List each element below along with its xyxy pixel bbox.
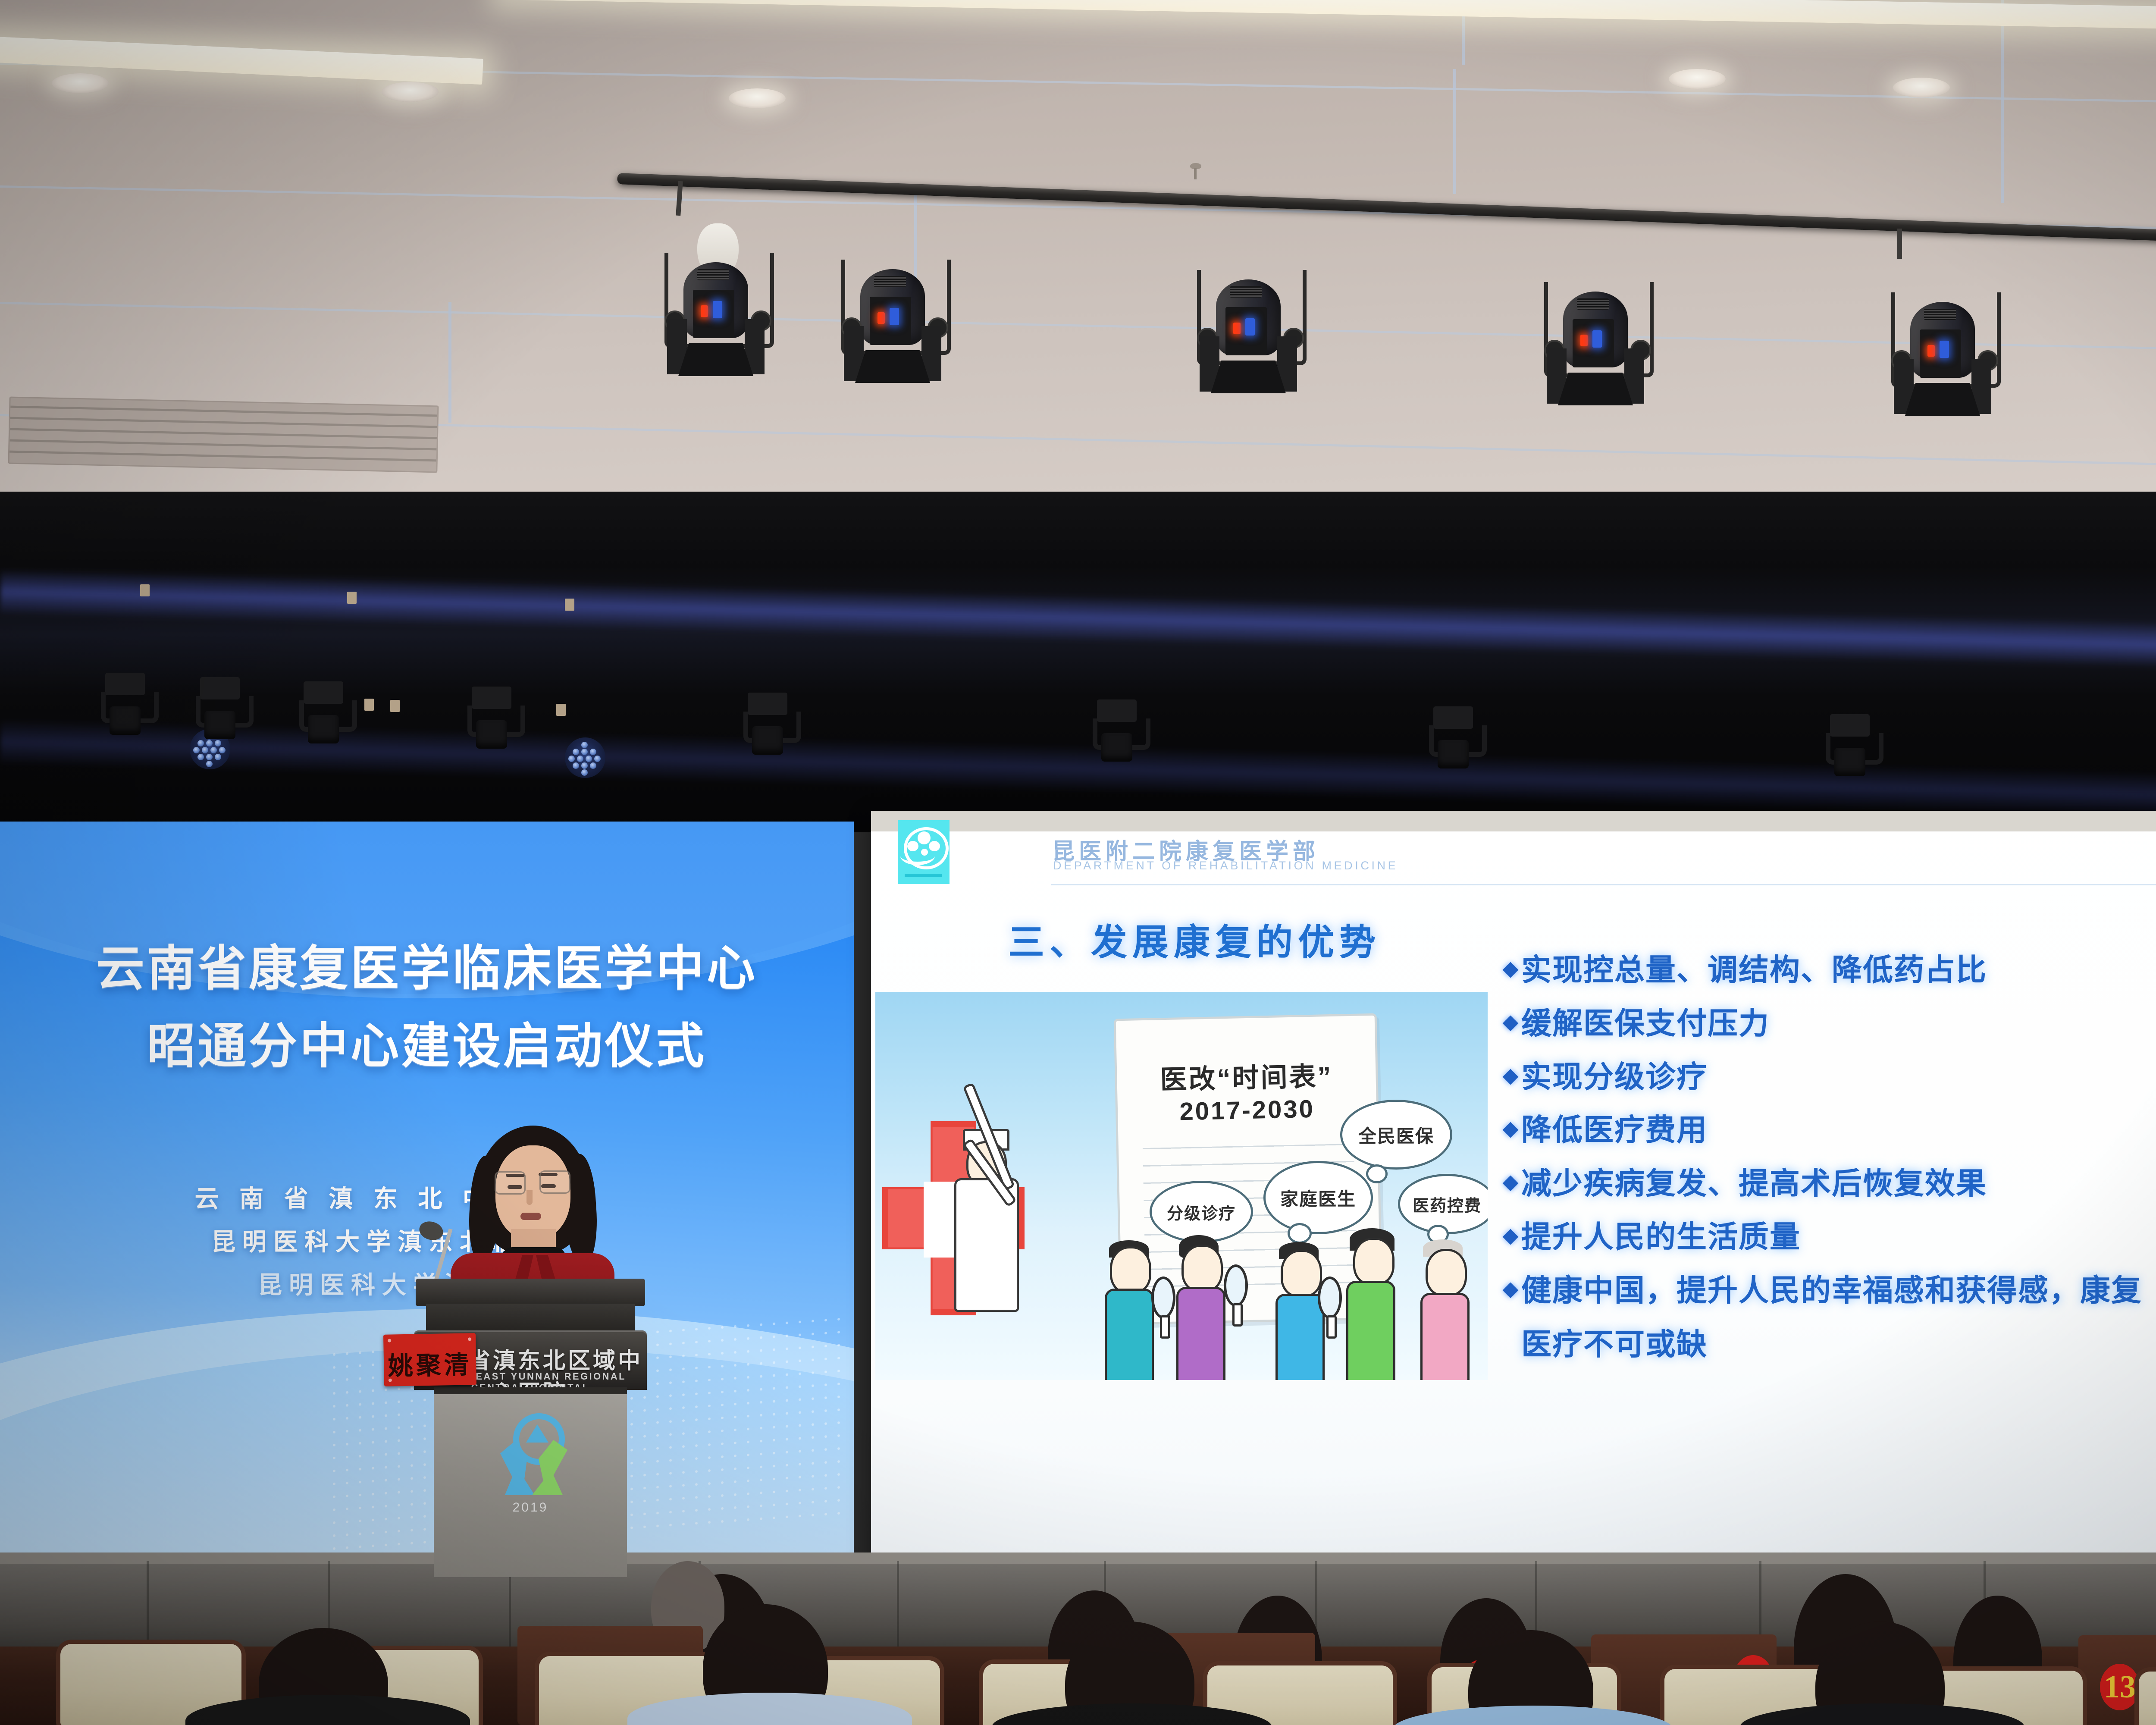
- bullet-wrapped-line: 医疗不可或缺: [1521, 1320, 2156, 1364]
- department-logo-icon: [898, 820, 950, 884]
- power-indicator-red-icon: [877, 312, 885, 324]
- list-item: 健康中国，提升人民的幸福感和获得感，康复: [1505, 1273, 2156, 1308]
- cartoon-person: [1349, 1229, 1396, 1380]
- power-indicator-red-icon: [1233, 323, 1241, 334]
- power-connector-blue-icon: [1592, 330, 1602, 348]
- power-connector-blue-icon: [1940, 341, 1949, 358]
- list-item: 提升人民的生活质量: [1505, 1220, 2156, 1255]
- ceiling: [0, 0, 2156, 509]
- cartoon-bubble: 家庭医生: [1263, 1161, 1373, 1234]
- bullet-diamond-icon: [1503, 1122, 1519, 1138]
- moving-head-light: [99, 673, 151, 737]
- moving-head-light: [1427, 706, 1479, 771]
- seat-number-badge: 13: [2100, 1664, 2140, 1710]
- cartoon-bubble: 分级诊疗: [1150, 1181, 1253, 1243]
- cartoon-person: [1276, 1239, 1324, 1380]
- bullet-diamond-icon: [1503, 962, 1519, 978]
- slide-header-english: DEPARTMENT OF REHABILITATION MEDICINE: [1053, 859, 1398, 872]
- projection-screen: 昆医附二院康复医学部 DEPARTMENT OF REHABILITATION …: [871, 811, 2156, 1570]
- stage-light-fixture: [671, 250, 761, 379]
- list-item: 缓解医保支付压力: [1505, 1007, 2156, 1041]
- moving-head-light: [1824, 714, 1876, 779]
- cartoon-person: [1177, 1234, 1225, 1380]
- overhead-truss-band: [0, 492, 2156, 832]
- moving-head-light: [194, 677, 246, 742]
- ceiling-vent: [8, 397, 439, 473]
- power-indicator-red-icon: [1927, 345, 1935, 357]
- bullet-diamond-icon: [1503, 1069, 1519, 1085]
- power-indicator-red-icon: [1580, 335, 1588, 346]
- cartoon-poster-title: 医改“时间表”: [1117, 1054, 1376, 1098]
- power-connector-blue-icon: [713, 301, 722, 318]
- moving-head-light: [1091, 699, 1143, 764]
- banner-subtitle-line1: 云 南 省 滇 东 北 中 心: [0, 1179, 733, 1214]
- screen-top-frame: [871, 811, 2156, 831]
- hospital-logo-icon: [498, 1413, 563, 1495]
- stage-light-fixture: [1203, 267, 1294, 397]
- slide-title: 三、发展康复的优势: [1008, 913, 1381, 966]
- cartoon-person: [1106, 1238, 1154, 1380]
- audience-seat: [2139, 1672, 2156, 1725]
- led-par-can: [565, 737, 605, 778]
- cartoon-person: [1421, 1238, 1469, 1380]
- cartoon-doctor: [951, 1131, 1018, 1312]
- banner-title-line2: 昭通分中心建设启动仪式: [0, 1007, 854, 1077]
- moving-head-light: [298, 681, 349, 746]
- speaker-name: 姚聚清: [383, 1344, 476, 1382]
- power-connector-blue-icon: [1245, 318, 1255, 336]
- slide-cartoon-illustration: 医改“时间表” 2017-2030 全民医保 家庭医生: [875, 992, 1488, 1380]
- slide-header-divider: [1051, 884, 2156, 885]
- bullet-diamond-icon: [1503, 1176, 1519, 1192]
- bullet-diamond-icon: [1503, 1229, 1519, 1245]
- list-item: 实现控总量、调结构、降低药占比: [1505, 953, 2156, 988]
- list-item: 降低医疗费用: [1505, 1113, 2156, 1148]
- list-item: 实现分级诊疗: [1505, 1060, 2156, 1095]
- bullet-diamond-icon: [1503, 1282, 1519, 1298]
- banner-title-line1: 云南省康复医学临床医学中心: [0, 929, 854, 999]
- stage-light-fixture: [1897, 290, 1988, 419]
- podium-year-label: 2019: [434, 1500, 627, 1515]
- slide-surface: 昆医附二院康复医学部 DEPARTMENT OF REHABILITATION …: [871, 811, 2156, 1570]
- moving-head-light: [466, 687, 517, 751]
- podium: 云南省滇东北区域中心医院 NORTHEAST YUNNAN REGIONAL C…: [423, 1279, 638, 1576]
- cartoon-bubble: 医药控费: [1398, 1174, 1488, 1234]
- cartoon-bubble: 全民医保: [1340, 1100, 1452, 1170]
- power-indicator-red-icon: [701, 305, 708, 317]
- stage-light-fixture: [1550, 279, 1641, 409]
- auditorium-photo: 云南省康复医学临床医学中心 昭通分中心建设启动仪式 云 南 省 滇 东 北 中 …: [0, 0, 2156, 1725]
- slide-bullet-list: 实现控总量、调结构、降低药占比 缓解医保支付压力 实现分级诊疗 降低医疗费用 减…: [1505, 953, 2156, 1364]
- banner-subtitle-line2: 昆明医科大学滇东北临: [0, 1223, 733, 1258]
- eyeglasses-icon: [495, 1171, 571, 1195]
- moving-head-light: [742, 693, 793, 757]
- podium-body: 2019: [434, 1387, 627, 1577]
- power-connector-blue-icon: [890, 308, 899, 325]
- list-item: 减少疾病复发、提高术后恢复效果: [1505, 1167, 2156, 1201]
- stage-light-fixture: [847, 257, 938, 386]
- speaker-nameplate: 姚聚清: [383, 1333, 476, 1386]
- cartoon-poster-years: 2017-2030: [1118, 1093, 1377, 1128]
- bullet-diamond-icon: [1503, 1015, 1519, 1031]
